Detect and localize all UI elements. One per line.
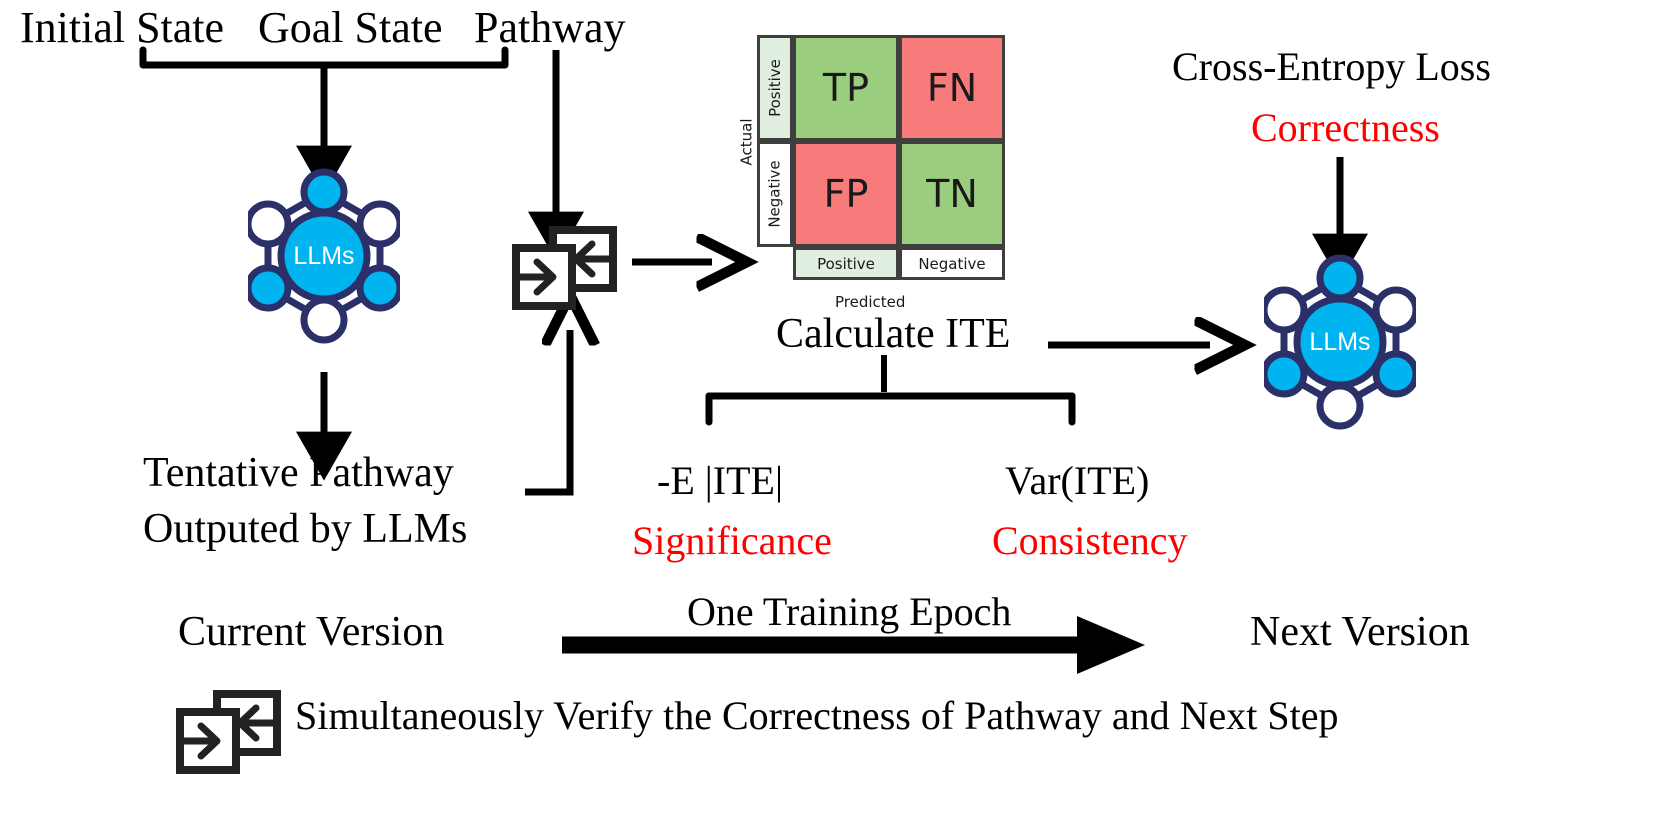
confusion-matrix: Actual Predicted Positive Negative TP FN…	[757, 35, 1005, 283]
cm-col-header-negative-text: Negative	[918, 255, 985, 273]
label-consistency-formula: Var(ITE)	[1005, 461, 1149, 501]
cm-axis-label-predicted: Predicted	[835, 293, 905, 311]
label-consistency: Consistency	[992, 521, 1188, 561]
verify-two-panels-icon-legend	[172, 690, 284, 774]
cm-cell-tp: TP	[793, 35, 899, 141]
label-legend-description: Simultaneously Verify the Correctness of…	[295, 696, 1339, 736]
cm-col-header-positive: Positive	[793, 247, 899, 280]
cm-row-header-negative-text: Negative	[766, 160, 784, 227]
label-one-training-epoch: One Training Epoch	[687, 592, 1011, 632]
label-next-version: Next Version	[1250, 611, 1470, 653]
cm-cell-fp-text: FP	[824, 172, 869, 216]
label-current-version: Current Version	[178, 611, 444, 653]
label-goal-state: Goal State	[258, 6, 443, 50]
cm-cell-fn: FN	[899, 35, 1005, 141]
cm-row-header-negative: Negative	[757, 141, 793, 247]
cm-cell-fn-text: FN	[927, 66, 977, 110]
label-significance-formula: -E |ITE|	[657, 461, 783, 501]
label-pathway: Pathway	[474, 6, 626, 50]
label-significance: Significance	[632, 521, 832, 561]
cm-row-header-positive-text: Positive	[766, 59, 784, 117]
label-cross-entropy-loss: Cross-Entropy Loss	[1172, 47, 1491, 87]
cm-cell-tp-text: TP	[823, 66, 869, 110]
cm-row-header-positive: Positive	[757, 35, 793, 141]
label-correctness: Correctness	[1251, 108, 1440, 148]
label-tentative-pathway-line2: Outputed by LLMs	[143, 508, 467, 550]
arrow-feedback-loop	[525, 330, 570, 492]
cm-axis-label-actual: Actual	[738, 119, 756, 166]
diagram-canvas: Initial State Goal State Pathway L	[0, 0, 1661, 831]
label-calculate-ite: Calculate ITE	[776, 313, 1010, 355]
llm-network-icon-right: LLMs	[1264, 254, 1416, 430]
cm-col-header-negative: Negative	[899, 247, 1005, 280]
brace-ite-terms	[709, 355, 1072, 422]
cm-cell-tn: TN	[899, 141, 1005, 247]
label-initial-state: Initial State	[20, 6, 224, 50]
llm-label-left: LLMs	[293, 242, 354, 270]
llm-network-icon-left: LLMs	[248, 168, 400, 344]
brace-initial-goal	[143, 50, 505, 154]
llm-label-right: LLMs	[1309, 328, 1370, 356]
cm-cell-tn-text: TN	[926, 172, 978, 216]
label-tentative-pathway-line1: Tentative Pathway	[143, 452, 454, 494]
cm-col-header-positive-text: Positive	[817, 255, 875, 273]
verify-two-panels-icon-middle	[508, 226, 620, 310]
cm-cell-fp: FP	[793, 141, 899, 247]
